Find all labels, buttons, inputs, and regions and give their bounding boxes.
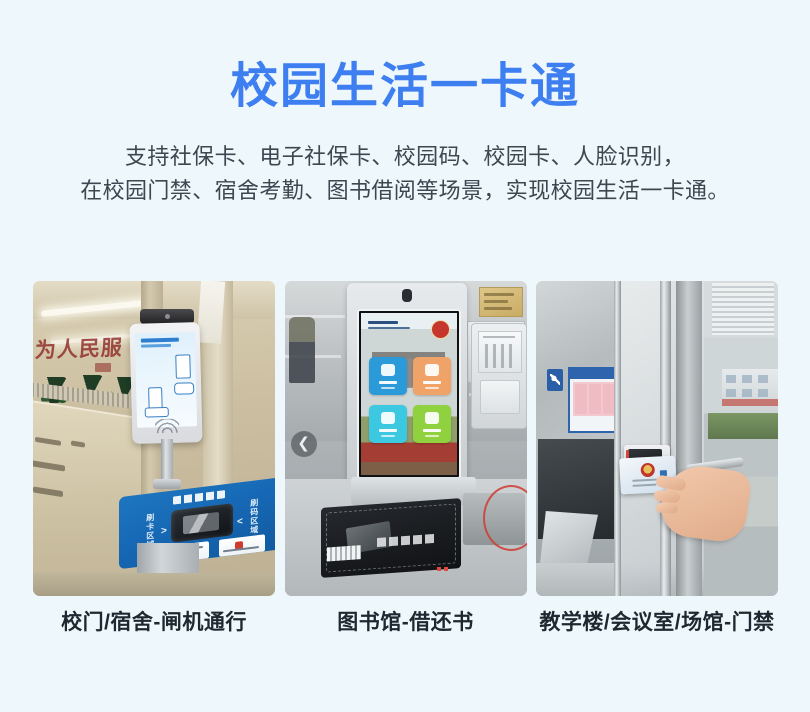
reader-illustration-icon <box>145 407 169 418</box>
screen-title-text <box>368 321 398 324</box>
caption-access: 教学楼/会议室/场馆-门禁 <box>536 606 778 636</box>
kiosk-tile-borrow[interactable] <box>369 357 407 395</box>
subtitle-line-1: 支持社保卡、电子社保卡、校园码、校园卡、人脸识别， <box>0 140 810 174</box>
scene-photo-row: 为人民服务 <box>33 281 778 596</box>
wall-seal-icon <box>95 363 111 372</box>
glass-door-left-panel <box>618 281 662 596</box>
door-mullion <box>614 281 621 596</box>
finger <box>656 503 678 514</box>
kiosk-tile-return[interactable] <box>413 357 451 395</box>
caption-gate: 校门/宿舍-闸机通行 <box>33 606 275 636</box>
school-emblem-icon <box>431 320 450 339</box>
caption-library: 图书馆-借还书 <box>285 606 527 636</box>
subtitle-line-2: 在校园门禁、宿舍考勤、图书借阅等场景，实现校园生活一卡通。 <box>0 174 810 208</box>
book-stack <box>327 545 361 561</box>
book-scan-pad <box>321 498 461 578</box>
nfc-wave-icon <box>155 419 179 434</box>
outside-signage <box>722 399 778 406</box>
chevron-left-icon: ❮ <box>291 431 317 457</box>
library-visitor <box>289 317 315 383</box>
kiosk-tile-query[interactable] <box>369 405 407 443</box>
face-recognition-terminal <box>129 322 202 444</box>
wall-calligraphy-text: 为人民服务 <box>34 332 122 365</box>
terminal-post-base <box>153 479 181 489</box>
scene-photo-library: ❮ <box>285 281 527 596</box>
scene-photo-access <box>536 281 778 596</box>
scene-photo-gate: 为人民服务 <box>33 281 275 596</box>
window-blinds <box>712 283 774 335</box>
notice-board <box>568 367 620 433</box>
status-led-icon <box>437 567 451 571</box>
kiosk-instruction-panel <box>471 323 527 429</box>
page-title: 校园生活一卡通 <box>0 0 810 114</box>
door-column <box>676 281 702 596</box>
door-mullion <box>660 281 671 596</box>
gate-brand-logo-icon <box>173 490 225 504</box>
page-subtitle: 支持社保卡、电子社保卡、校园码、校园卡、人脸识别， 在校园门禁、宿舍考勤、图书借… <box>0 140 810 208</box>
phone-illustration-icon <box>175 354 191 378</box>
gate-right-hint-label: 刷码区域 <box>249 498 258 535</box>
chevron-left-icon: < <box>237 516 243 528</box>
scene-caption-row: 校门/宿舍-闸机通行 图书馆-借还书 教学楼/会议室/场馆-门禁 <box>33 606 778 636</box>
outside-hedge <box>708 413 778 439</box>
library-notice-poster <box>479 287 523 317</box>
terminal-screen <box>135 332 197 428</box>
wall-poster <box>197 281 225 344</box>
kiosk-screen <box>357 309 461 479</box>
wall-sign-icon <box>547 369 563 391</box>
gate-scan-window <box>171 503 233 543</box>
kiosk-camera-icon <box>402 289 412 302</box>
kiosk-tile-renew[interactable] <box>413 405 451 443</box>
reader-illustration-icon <box>174 382 194 395</box>
chevron-right-icon: > <box>161 525 167 537</box>
kiosk-side-button[interactable] <box>480 380 520 414</box>
national-emblem-icon <box>640 463 655 478</box>
screen-subtitle-text <box>368 327 410 329</box>
gate-floor <box>33 573 275 596</box>
library-self-service-kiosk <box>347 283 467 483</box>
phone-illustration-icon <box>148 387 163 409</box>
